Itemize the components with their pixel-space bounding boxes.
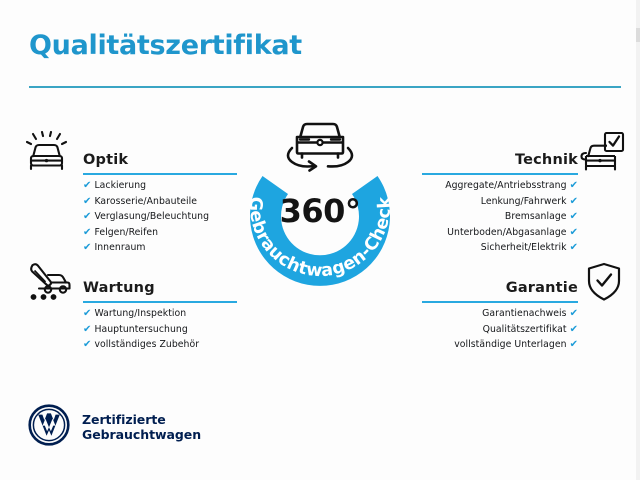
section-wartung-header: Wartung (83, 270, 241, 300)
list-item: Unterboden/Abgasanlage✔ (445, 225, 578, 241)
check-icon: ✔ (570, 242, 578, 253)
list-item-label: vollständiges Zubehör (94, 339, 199, 350)
check-icon: ✔ (570, 211, 578, 222)
check-icon: ✔ (83, 180, 91, 191)
section-wartung: Wartung ✔Wartung/Inspektion ✔Hauptunters… (83, 270, 241, 300)
footer-line-1: Zertifizierte (82, 412, 201, 428)
section-garantie-header: Garantie (418, 270, 578, 300)
section-wartung-list: ✔Wartung/Inspektion ✔Hauptuntersuchung ✔… (83, 306, 199, 353)
check-icon: ✔ (570, 180, 578, 191)
section-optik-header: Optik (83, 142, 241, 172)
certificate-page: Qualitätszertifikat Optik ✔La (0, 0, 640, 480)
car-shine-icon (26, 131, 70, 177)
list-item-label: Wartung/Inspektion (94, 308, 186, 319)
footer-brand: Zertifizierte Gebrauchtwagen (28, 404, 201, 450)
check-icon: ✔ (570, 339, 578, 350)
badge-360-gebrauchtwagen-check: Gebrauchtwagen-Check 360° (228, 118, 412, 302)
list-item-label: Sicherheit/Elektrik (481, 242, 567, 253)
list-item-label: Aggregate/Antriebsstrang (445, 180, 566, 191)
list-item-label: Verglasung/Beleuchtung (94, 211, 209, 222)
check-icon: ✔ (570, 196, 578, 207)
section-optik: Optik ✔Lackierung ✔Karosserie/Anbauteile… (83, 142, 241, 172)
check-icon: ✔ (83, 196, 91, 207)
list-item-label: Hauptuntersuchung (94, 324, 187, 335)
section-wartung-divider (83, 301, 237, 303)
list-item: ✔Innenraum (83, 240, 209, 256)
list-item-label: Lackierung (94, 180, 146, 191)
list-item: Bremsanlage✔ (445, 209, 578, 225)
list-item: Aggregate/Antriebsstrang✔ (445, 178, 578, 194)
car-wrench-icon (26, 261, 74, 309)
check-icon: ✔ (83, 308, 91, 319)
list-item-label: Qualitätszertifikat (483, 324, 567, 335)
section-optik-list: ✔Lackierung ✔Karosserie/Anbauteile ✔Verg… (83, 178, 209, 256)
section-garantie-list: Garantienachweis✔ Qualitätszertifikat✔ v… (454, 306, 578, 353)
section-technik-title: Technik (515, 152, 578, 168)
list-item: ✔vollständiges Zubehör (83, 337, 199, 353)
check-icon: ✔ (570, 227, 578, 238)
section-technik: Technik Aggregate/Antriebsstrang✔ Lenkun… (418, 142, 578, 172)
list-item: Lenkung/Fahrwerk✔ (445, 194, 578, 210)
shield-check-icon (584, 261, 624, 307)
section-optik-title: Optik (83, 152, 128, 168)
list-item-label: Bremsanlage (505, 211, 567, 222)
check-icon: ✔ (83, 227, 91, 238)
section-wartung-title: Wartung (83, 280, 155, 296)
section-technik-list: Aggregate/Antriebsstrang✔ Lenkung/Fahrwe… (445, 178, 578, 256)
list-item-label: Unterboden/Abgasanlage (447, 227, 566, 238)
list-item-label: Karosserie/Anbauteile (94, 196, 197, 207)
list-item: Qualitätszertifikat✔ (454, 322, 578, 338)
title-divider (29, 86, 621, 88)
section-garantie-title: Garantie (506, 280, 578, 296)
section-optik-divider (83, 173, 237, 175)
list-item: Sicherheit/Elektrik✔ (445, 240, 578, 256)
check-icon: ✔ (83, 339, 91, 350)
check-icon: ✔ (570, 308, 578, 319)
check-icon: ✔ (83, 242, 91, 253)
list-item: vollständige Unterlagen✔ (454, 337, 578, 353)
footer-text: Zertifizierte Gebrauchtwagen (82, 412, 201, 443)
list-item: Garantienachweis✔ (454, 306, 578, 322)
check-icon: ✔ (83, 324, 91, 335)
check-icon: ✔ (83, 211, 91, 222)
list-item-label: Garantienachweis (482, 308, 566, 319)
section-technik-divider (422, 173, 578, 175)
list-item: ✔Verglasung/Beleuchtung (83, 209, 209, 225)
car-rotation-icon (278, 108, 362, 176)
check-icon: ✔ (570, 324, 578, 335)
list-item-label: Felgen/Reifen (94, 227, 158, 238)
corner-marker (636, 28, 640, 42)
section-garantie: Garantie Garantienachweis✔ Qualitätszert… (418, 270, 578, 300)
page-edge (636, 0, 640, 480)
page-title: Qualitätszertifikat (29, 32, 302, 59)
list-item: ✔Hauptuntersuchung (83, 322, 199, 338)
list-item: ✔Wartung/Inspektion (83, 306, 199, 322)
car-checkbox-icon (580, 131, 626, 177)
volkswagen-logo (28, 404, 70, 450)
list-item-label: vollständige Unterlagen (454, 339, 566, 350)
list-item: ✔Karosserie/Anbauteile (83, 194, 209, 210)
list-item: ✔Felgen/Reifen (83, 225, 209, 241)
list-item-label: Innenraum (94, 242, 145, 253)
section-garantie-divider (422, 301, 578, 303)
list-item-label: Lenkung/Fahrwerk (481, 196, 567, 207)
section-technik-header: Technik (418, 142, 578, 172)
list-item: ✔Lackierung (83, 178, 209, 194)
footer-line-2: Gebrauchtwagen (82, 427, 201, 443)
badge-center-label: 360° (228, 192, 412, 230)
